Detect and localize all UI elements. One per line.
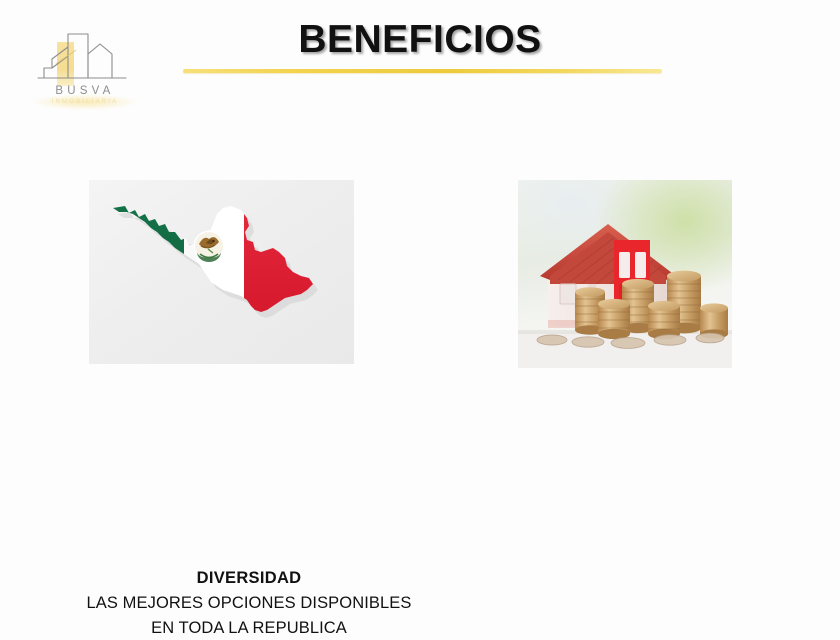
benefit-body-line-1: LAS MEJORES OPCIONES DISPONIBLES <box>36 591 462 615</box>
mexico-map-flag-image <box>89 180 354 364</box>
slide-beneficios: BUSVA INMOBILIARIA BENEFICIOS <box>0 0 840 630</box>
caption-diversidad: DIVERSIDAD LAS MEJORES OPCIONES DISPONIB… <box>36 568 462 640</box>
logo-tagline: INMOBILIARIA <box>30 99 140 105</box>
house-and-coins-illustration <box>518 180 732 368</box>
benefit-heading: DIVERSIDAD <box>36 568 462 588</box>
benefit-body-line-2: EN TODA LA REPUBLICA <box>36 616 462 640</box>
mexico-map-shape <box>89 180 354 364</box>
page-title: BENEFICIOS <box>0 18 840 62</box>
house-and-coins-image <box>518 180 732 368</box>
benefit-column-accesibilidad: ACCESIBILIDAD INVERSIONES DE ACUERDO A S… <box>432 180 818 368</box>
logo-wordmark: BUSVA <box>30 85 140 97</box>
title-underline-rule <box>183 69 662 73</box>
benefit-column-diversidad: DIVERSIDAD LAS MEJORES OPCIONES DISPONIB… <box>28 180 414 364</box>
